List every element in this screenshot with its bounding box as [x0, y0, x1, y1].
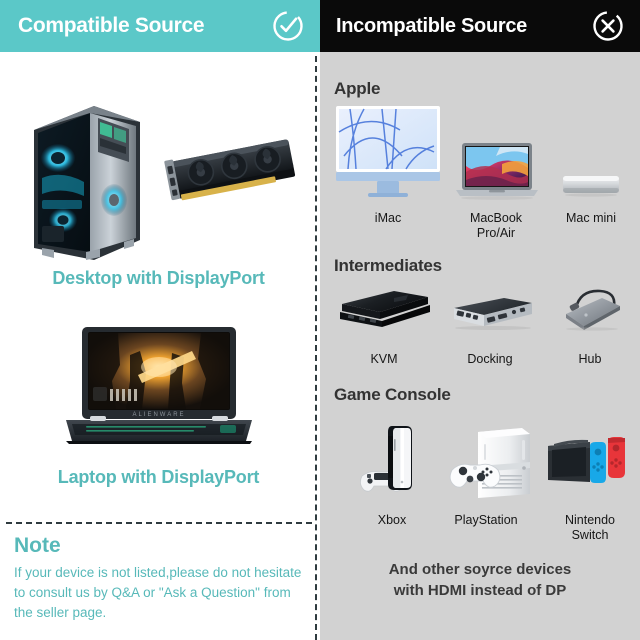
device-label-hub: Hub — [550, 352, 630, 367]
section-heading-game-console: Game Console — [334, 385, 451, 405]
desktop-tower-icon — [28, 100, 146, 268]
device-label-macbook: MacBookPro/Air — [448, 211, 544, 241]
compatible-source-title: Compatible Source — [18, 14, 204, 38]
usb-hub-icon — [558, 288, 626, 332]
device-label-mac-mini: Mac mini — [548, 211, 634, 226]
x-circle-icon — [592, 10, 624, 42]
xbox-console-icon — [448, 422, 532, 506]
gaming-laptop-icon: ALIENWARE — [60, 325, 258, 447]
compatible-source-header: Compatible Source — [0, 0, 320, 52]
incompatible-footer-note: And other soyrce deviceswith HDMI instea… — [320, 560, 640, 601]
section-heading-intermediates: Intermediates — [334, 256, 442, 276]
imac-icon — [330, 104, 446, 200]
device-label-nintendo-switch: NintendoSwitch — [544, 513, 636, 543]
caption-laptop-displayport: Laptop with DisplayPort — [0, 467, 317, 488]
incompatible-source-title: Incompatible Source — [336, 15, 527, 38]
note-divider — [6, 522, 312, 524]
device-label-imac: iMac — [344, 211, 432, 226]
incompatible-source-header: Incompatible Source — [320, 0, 640, 52]
section-heading-apple: Apple — [334, 79, 380, 99]
panel-divider — [315, 56, 317, 640]
docking-station-icon — [446, 296, 536, 332]
note-box: Note If your device is not listed,please… — [14, 534, 310, 623]
device-label-xbox: Xbox — [348, 513, 436, 528]
device-label-docking: Docking — [444, 352, 536, 367]
note-body: If your device is not listed,please do n… — [14, 563, 310, 623]
device-label-kvm: KVM — [340, 352, 428, 367]
macbook-icon — [456, 142, 538, 200]
kvm-switch-icon — [336, 288, 432, 330]
playstation5-console-icon — [360, 424, 430, 506]
note-title: Note — [14, 534, 310, 558]
nintendo-switch-icon — [546, 428, 626, 490]
mac-mini-icon — [560, 172, 622, 200]
svg-text:ALIENWARE: ALIENWARE — [132, 412, 185, 418]
caption-desktop-displayport: Desktop with DisplayPort — [0, 268, 317, 289]
check-circle-icon — [272, 10, 304, 42]
comparison-infographic: Compatible Source Incompatible Source — [0, 0, 640, 640]
device-label-playstation: PlayStation — [436, 513, 536, 528]
graphics-card-icon — [168, 140, 300, 210]
